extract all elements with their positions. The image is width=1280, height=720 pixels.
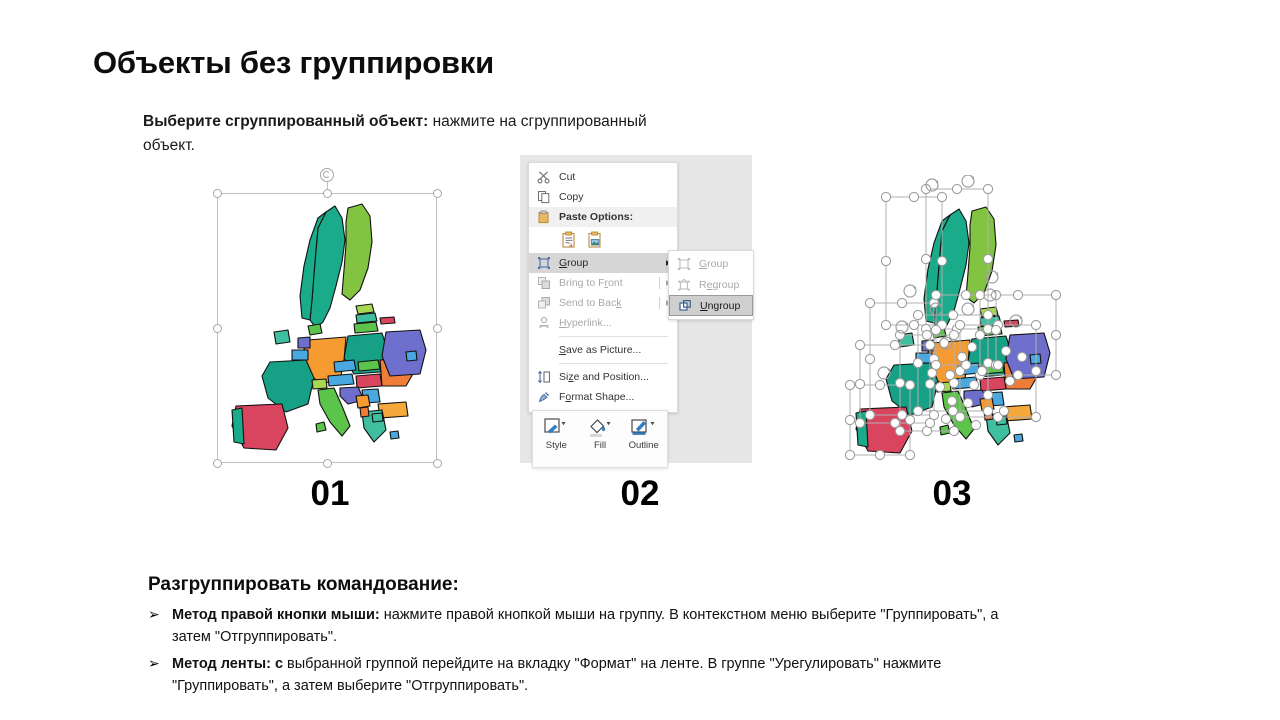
ungroup-icon [678, 299, 692, 313]
page-title: Объекты без группировки [93, 45, 494, 81]
menu-item-group-label: Group [559, 257, 588, 269]
shape-style-icon [539, 416, 574, 440]
copy-icon [537, 190, 551, 204]
intro-bold-lead: Выберите сгруппированный объект: [143, 113, 428, 130]
selection-handle-nw[interactable] [213, 189, 222, 198]
menu-item-save-as-picture-label: Save as Picture... [559, 344, 641, 356]
menu-item-size-and-position[interactable]: Size and Position... [529, 367, 677, 387]
menu-item-group[interactable]: Group [529, 253, 677, 273]
selection-handle-n[interactable] [323, 189, 332, 198]
list-item-text: Метод правой кнопки мыши: нажмите правой… [172, 604, 1038, 649]
menu-divider-vertical [659, 297, 660, 309]
list-item-rest: выбранной группой перейдите на вкладку "… [172, 656, 941, 694]
menu-item-send-to-back[interactable]: Send to Back [529, 293, 677, 313]
submenu-item-group[interactable]: Group [669, 253, 753, 274]
section-heading: Разгруппировать командование: [148, 574, 459, 596]
group-icon [677, 257, 691, 271]
list-item-bold: Метод правой кнопки мыши: [172, 607, 380, 623]
menu-item-bring-to-front[interactable]: Bring to Front [529, 273, 677, 293]
ungrouped-selection-overlay[interactable] [840, 175, 1080, 470]
menu-item-cut-label: Cut [559, 171, 575, 183]
hyperlink-icon [537, 316, 551, 330]
menu-separator [559, 363, 668, 364]
bullet-arrow-icon: ➢ [148, 604, 172, 649]
menu-item-size-and-position-label: Size and Position... [559, 371, 649, 383]
menu-item-paste-options[interactable]: Paste Options: [529, 207, 677, 227]
mini-toolbar-style-label: Style [546, 440, 567, 451]
slide-root: Объекты без группировки Выберите сгруппи… [0, 0, 1280, 720]
step-01-figure [210, 168, 450, 468]
bullet-arrow-icon: ➢ [148, 653, 172, 698]
menu-item-format-shape-label: Format Shape... [559, 391, 634, 403]
format-shape-icon [537, 390, 551, 404]
size-position-icon [537, 370, 551, 384]
menu-item-bring-to-front-label: Bring to Front [559, 277, 623, 289]
submenu-item-ungroup[interactable]: Ungroup [669, 295, 753, 316]
list-item: ➢ Метод правой кнопки мыши: нажмите прав… [148, 604, 1038, 649]
submenu-item-regroup-label: Regroup [699, 279, 739, 291]
menu-item-hyperlink[interactable]: Hyperlink... [529, 313, 677, 333]
scissors-icon [537, 170, 551, 184]
group-submenu[interactable]: Group Regroup [668, 250, 754, 320]
group-icon [537, 256, 551, 270]
mini-toolbar-fill[interactable]: Fill [583, 416, 618, 451]
step-02-figure: Cut Copy Paste Options [520, 155, 760, 465]
paste-picture-icon[interactable] [587, 231, 604, 249]
menu-item-copy[interactable]: Copy [529, 187, 677, 207]
selection-handle-ne[interactable] [433, 189, 442, 198]
fill-bucket-icon [583, 416, 618, 440]
regroup-icon [677, 278, 691, 292]
svg-text:a: a [569, 242, 573, 249]
menu-item-copy-label: Copy [559, 191, 584, 203]
step-03-figure [840, 175, 1080, 470]
menu-item-paste-options-label: Paste Options: [559, 211, 633, 223]
intro-paragraph: Выберите сгруппированный объект: нажмите… [143, 110, 683, 158]
paste-keep-formatting-icon[interactable]: a [561, 231, 578, 249]
paste-icon [537, 210, 551, 224]
selection-handle-e[interactable] [433, 324, 442, 333]
paste-options-icons: a [529, 227, 677, 253]
mini-toolbar-fill-label: Fill [594, 440, 606, 451]
submenu-item-ungroup-label: Ungroup [700, 300, 740, 312]
context-menu[interactable]: Cut Copy Paste Options [528, 162, 678, 413]
bring-front-icon [537, 276, 551, 290]
mini-toolbar-outline-label: Outline [629, 440, 659, 451]
selection-handle-w[interactable] [213, 324, 222, 333]
send-back-icon [537, 296, 551, 310]
menu-separator [559, 336, 668, 337]
step-number-01: 01 [270, 474, 390, 514]
menu-divider-vertical [659, 277, 660, 289]
step-number-03: 03 [892, 474, 1012, 514]
selection-handle-s[interactable] [323, 459, 332, 468]
selection-handle-se[interactable] [433, 459, 442, 468]
mini-toolbar[interactable]: Style Fill [532, 410, 668, 468]
menu-item-hyperlink-label: Hyperlink... [559, 317, 612, 329]
europe-map-grouped[interactable] [230, 200, 426, 458]
mini-toolbar-style[interactable]: Style [539, 416, 574, 451]
menu-item-format-shape[interactable]: Format Shape... [529, 387, 677, 407]
list-item: ➢ Метод ленты: с выбранной группой перей… [148, 653, 1038, 698]
step-number-02: 02 [580, 474, 700, 514]
menu-item-save-as-picture[interactable]: Save as Picture... [529, 340, 677, 360]
menu-item-cut[interactable]: Cut [529, 167, 677, 187]
submenu-item-group-label: Group [699, 258, 728, 270]
mini-toolbar-outline[interactable]: Outline [626, 416, 661, 451]
instruction-list: ➢ Метод правой кнопки мыши: нажмите прав… [148, 604, 1038, 702]
shape-outline-icon [626, 416, 661, 440]
rotate-handle[interactable] [320, 168, 334, 182]
menu-item-send-to-back-label: Send to Back [559, 297, 621, 309]
selection-handle-sw[interactable] [213, 459, 222, 468]
list-item-text: Метод ленты: с выбранной группой перейди… [172, 653, 1038, 698]
list-item-bold: Метод ленты: с [172, 656, 283, 672]
submenu-item-regroup[interactable]: Regroup [669, 274, 753, 295]
